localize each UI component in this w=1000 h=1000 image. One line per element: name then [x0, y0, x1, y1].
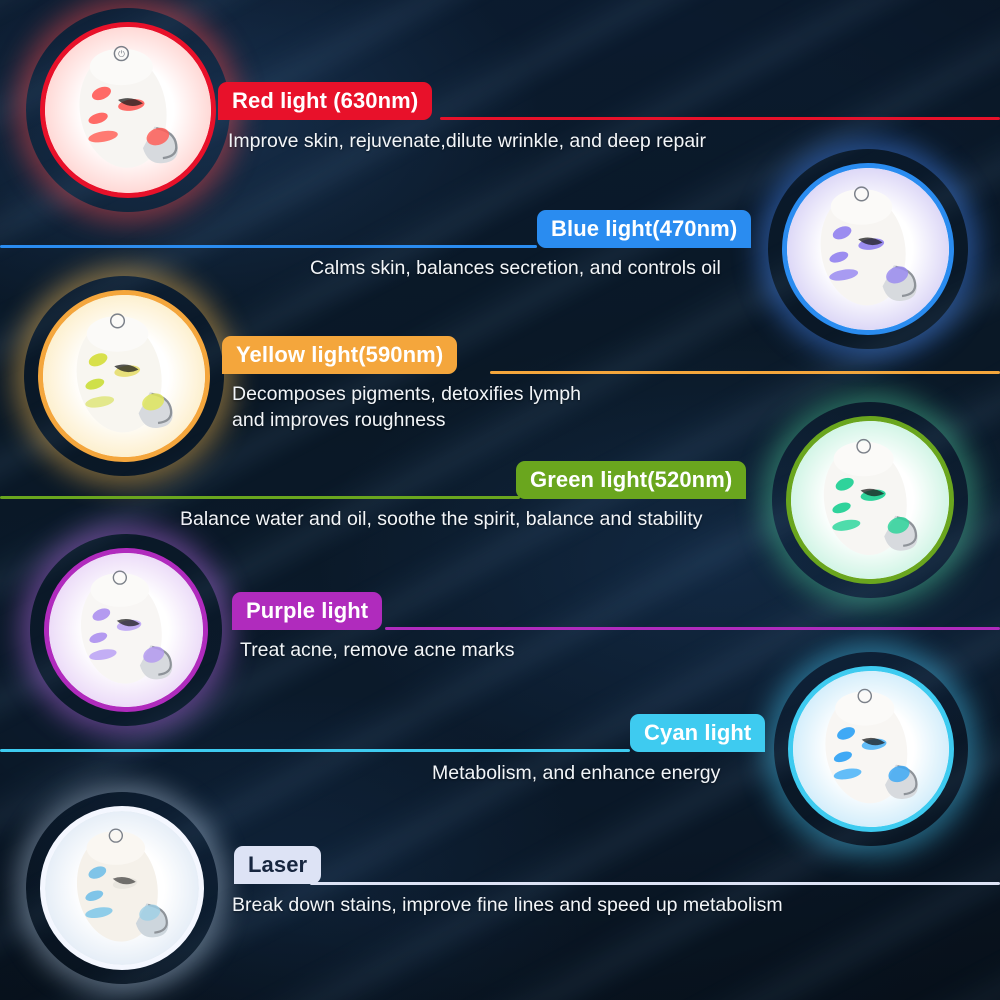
- description-laser: Break down stains, improve fine lines an…: [232, 892, 972, 918]
- description-blue: Calms skin, balances secretion, and cont…: [310, 255, 1000, 281]
- divider-rule-cyan: [0, 749, 630, 752]
- divider-rule-green: [0, 496, 520, 499]
- divider-rule-blue: [0, 245, 537, 248]
- badge-red[interactable]: Red light (630nm): [218, 82, 432, 120]
- description-purple: Treat acne, remove acne marks: [240, 637, 940, 663]
- mask-illustration-yellow: [43, 295, 205, 457]
- mask-device-laser: [40, 806, 204, 970]
- mask-device-purple: [44, 548, 208, 712]
- mask-illustration-laser: [45, 811, 199, 965]
- badge-cyan[interactable]: Cyan light: [630, 714, 765, 752]
- svg-text:⏻: ⏻: [118, 50, 125, 59]
- mask-illustration-blue: [787, 168, 949, 330]
- mask-device-yellow: [38, 290, 210, 462]
- mask-device-cyan: [788, 666, 954, 832]
- mask-illustration-cyan: [793, 671, 949, 827]
- mask-device-blue: [782, 163, 954, 335]
- mask-device-green: [786, 416, 954, 584]
- divider-rule-yellow: [490, 371, 1000, 374]
- divider-rule-red: [440, 117, 1000, 120]
- badge-laser[interactable]: Laser: [234, 846, 321, 884]
- infographic-canvas: ⏻ Red light (630nm) Improve skin, rejuve…: [0, 0, 1000, 1000]
- mask-illustration-green: [791, 421, 949, 579]
- badge-blue[interactable]: Blue light(470nm): [537, 210, 751, 248]
- mask-illustration-purple: [49, 553, 203, 707]
- badge-green[interactable]: Green light(520nm): [516, 461, 746, 499]
- description-green: Balance water and oil, soothe the spirit…: [180, 506, 980, 532]
- divider-rule-laser: [310, 882, 1000, 885]
- description-cyan: Metabolism, and enhance energy: [432, 760, 992, 786]
- mask-device-red: ⏻: [40, 22, 216, 198]
- badge-yellow[interactable]: Yellow light(590nm): [222, 336, 457, 374]
- badge-purple[interactable]: Purple light: [232, 592, 382, 630]
- divider-rule-purple: [385, 627, 1000, 630]
- description-red: Improve skin, rejuvenate,dilute wrinkle,…: [228, 128, 988, 154]
- mask-illustration-red: ⏻: [45, 27, 211, 193]
